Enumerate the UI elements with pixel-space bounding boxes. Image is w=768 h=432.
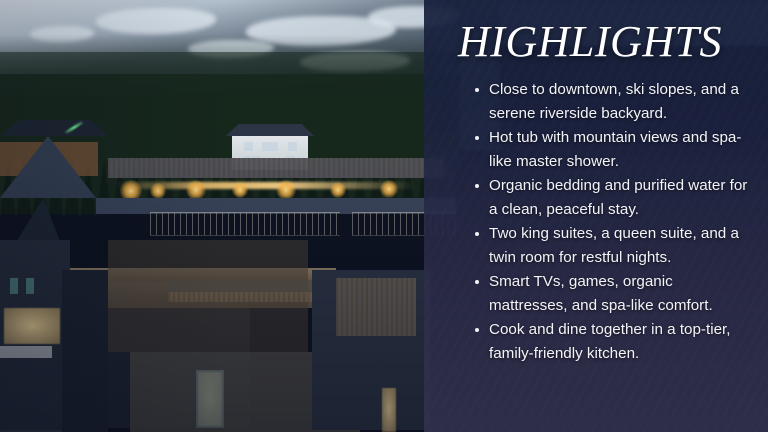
highlights-list: Close to downtown, ski slopes, and a ser… [474,78,752,366]
list-item: Two king suites, a queen suite, and a tw… [474,222,752,270]
list-item: Organic bedding and purified water for a… [474,174,752,222]
page-title: HIGHLIGHTS [424,16,756,67]
highlights-slide: HIGHLIGHTS Close to downtown, ski slopes… [0,0,768,432]
list-item: Hot tub with mountain views and spa-like… [474,126,752,174]
list-item: Cook and dine together in a top-tier, fa… [474,318,752,366]
list-item: Smart TVs, games, organic mattresses, an… [474,270,752,318]
list-item: Close to downtown, ski slopes, and a ser… [474,78,752,126]
highlights-panel: HIGHLIGHTS Close to downtown, ski slopes… [424,0,768,432]
